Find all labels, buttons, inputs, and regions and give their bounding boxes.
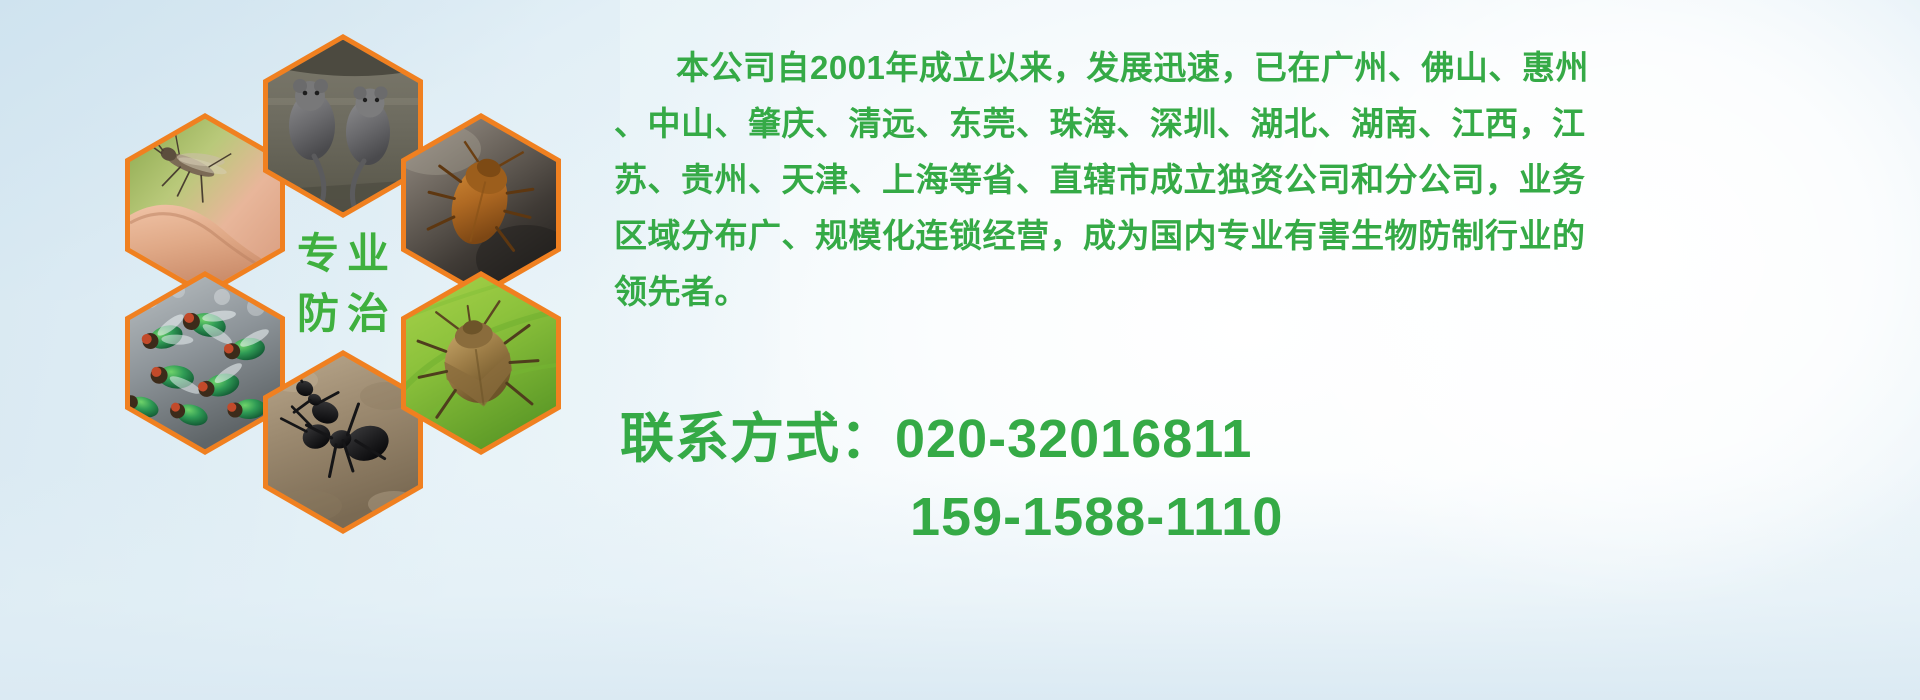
contact-primary-line[interactable]: 联系方式：020-32016811 (620, 400, 1860, 478)
mosquito-photo (130, 119, 280, 291)
description-line-5: 领先者。 (614, 264, 1844, 320)
contact-secondary-line[interactable]: 159-1588-1110 (620, 478, 1860, 556)
center-label-line-1: 专业 (289, 224, 397, 284)
center-label-line-2: 防治 (289, 284, 397, 344)
hex-cell-ant[interactable] (263, 350, 423, 534)
cockroach-photo (406, 119, 556, 291)
hex-cell-cockroach[interactable] (401, 113, 561, 297)
description-line-3: 苏、贵州、天津、上海等省、直辖市成立独资公司和分公司，业务 (614, 152, 1844, 208)
description-line-4: 区域分布广、规模化连锁经营，成为国内专业有害生物防制行业的 (614, 208, 1844, 264)
hex-cell-rats[interactable] (263, 34, 423, 218)
hex-cell-stink-bug[interactable] (401, 271, 561, 455)
contact-block: 联系方式：020-32016811 159-1588-1110 (620, 400, 1860, 556)
honeycomb-center-label: 专业 防治 (263, 192, 423, 376)
ant-photo (268, 356, 418, 528)
flies-photo (130, 277, 280, 449)
description-line-1: 本公司自2001年成立以来，发展迅速，已在广州、佛山、惠州 (614, 40, 1844, 96)
description-line-2: 、中山、肇庆、清远、东莞、珠海、深圳、湖北、湖南、江西，江 (614, 96, 1844, 152)
promo-banner: 专业 防治 (0, 0, 1920, 700)
hex-cell-mosquito[interactable] (125, 113, 285, 297)
stink-bug-photo (406, 277, 556, 449)
company-description: 本公司自2001年成立以来，发展迅速，已在广州、佛山、惠州 、中山、肇庆、清远、… (614, 40, 1844, 320)
honeycomb-image-cluster: 专业 防治 (95, 18, 595, 578)
rats-photo (268, 40, 418, 212)
hex-cell-flies[interactable] (125, 271, 285, 455)
